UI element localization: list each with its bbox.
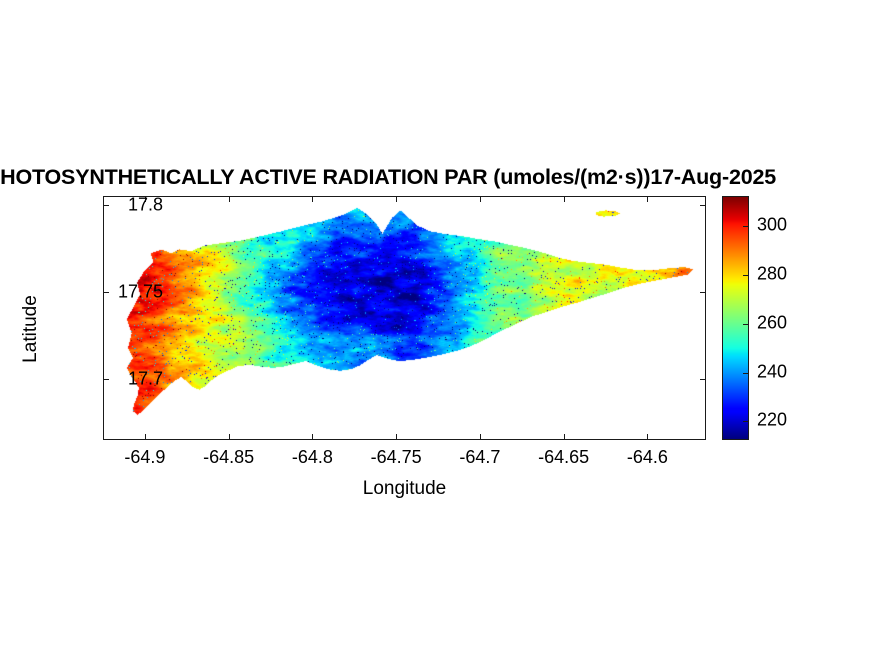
y-tick-right [700, 205, 706, 206]
x-tick-label: -64.9 [124, 447, 165, 468]
colorbar-gradient [723, 197, 748, 439]
x-tick [145, 434, 146, 440]
x-tick-label: -64.6 [627, 447, 668, 468]
colorbar-tick [743, 226, 748, 227]
y-tick [103, 379, 109, 380]
x-tick-label: -64.75 [371, 447, 422, 468]
x-tick-label: -64.8 [292, 447, 333, 468]
colorbar-tick-label: 280 [757, 264, 787, 285]
y-tick-right [700, 292, 706, 293]
x-tick [396, 434, 397, 440]
colorbar-tick [743, 373, 748, 374]
x-tick-top [480, 196, 481, 202]
figure-canvas: PHOTOSYNTHETICALLY ACTIVE RADIATION PAR … [0, 0, 875, 656]
x-tick-label: -64.7 [459, 447, 500, 468]
y-tick-label: 17.7 [128, 369, 163, 390]
x-tick-top [312, 196, 313, 202]
x-tick-label: -64.85 [203, 447, 254, 468]
y-tick [103, 292, 109, 293]
x-tick [647, 434, 648, 440]
par-heatmap [104, 197, 706, 440]
x-tick [564, 434, 565, 440]
colorbar[interactable] [722, 196, 749, 440]
y-tick [103, 205, 109, 206]
x-tick [480, 434, 481, 440]
y-tick-label: 17.75 [118, 281, 163, 302]
colorbar-tick-label: 300 [757, 215, 787, 236]
chart-title-text: PHOTOSYNTHETICALLY ACTIVE RADIATION PAR … [0, 162, 776, 192]
colorbar-tick [743, 324, 748, 325]
x-axis-label: Longitude [103, 478, 706, 500]
colorbar-tick [743, 421, 748, 422]
x-tick [229, 434, 230, 440]
x-tick-top [564, 196, 565, 202]
x-tick-top [396, 196, 397, 202]
map-axes [103, 196, 706, 440]
x-tick-top [229, 196, 230, 202]
colorbar-tick-label: 240 [757, 361, 787, 382]
x-tick-top [647, 196, 648, 202]
colorbar-tick-label: 220 [757, 410, 787, 431]
x-tick-label: -64.65 [538, 447, 589, 468]
colorbar-tick [743, 275, 748, 276]
y-axis-label: Latitude [20, 269, 42, 389]
colorbar-tick-label: 260 [757, 312, 787, 333]
y-tick-label: 17.8 [128, 194, 163, 215]
y-tick-right [700, 379, 706, 380]
chart-title: PHOTOSYNTHETICALLY ACTIVE RADIATION PAR … [0, 162, 875, 192]
x-tick [312, 434, 313, 440]
